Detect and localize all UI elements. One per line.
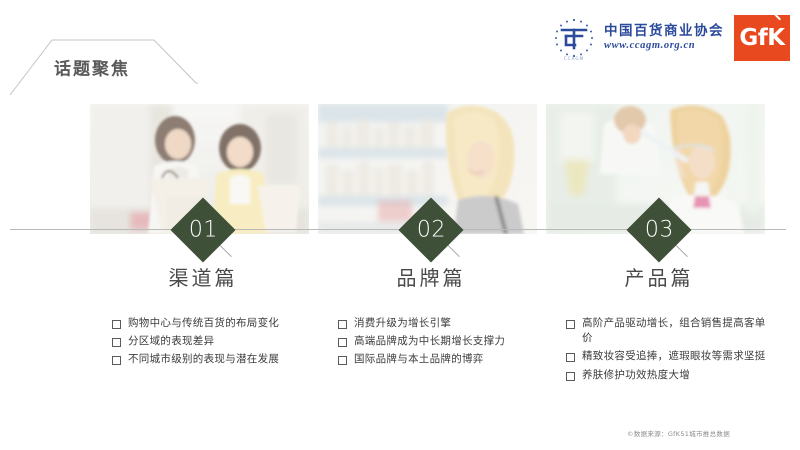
page-title-banner: 话题聚焦: [8, 38, 198, 96]
section-bullet-list: 消费升级为增长引擎 高端品牌成为中长期增长支撑力 国际品牌与本土品牌的博弈: [338, 316, 553, 371]
square-bullet-icon: [566, 372, 575, 381]
square-bullet-icon: [566, 353, 575, 362]
connector-line-right: [686, 229, 786, 230]
section-bullet-list: 购物中心与传统百货的布局变化 分区域的表现差异 不同城市级别的表现与潜在发展: [112, 316, 327, 371]
bullet-text: 购物中心与传统百货的布局变化: [128, 316, 279, 331]
bullet-item: 不同城市级别的表现与潜在发展: [112, 352, 327, 367]
section-bullet-list: 高阶产品驱动增长，组合销售提高客单价 精致妆容受追捧，遮瑕眼妆等需求坚挺 养肤修…: [566, 316, 766, 386]
section-title: 渠道篇: [90, 262, 316, 291]
bullet-item: 国际品牌与本土品牌的博弈: [338, 352, 553, 367]
square-bullet-icon: [338, 338, 347, 347]
bullet-item: 分区域的表现差异: [112, 334, 327, 349]
bullet-text: 分区域的表现差异: [128, 334, 214, 349]
bullet-item: 养肤修护功效热度大增: [566, 368, 766, 383]
bullet-text: 国际品牌与本土品牌的博弈: [354, 352, 484, 367]
square-bullet-icon: [338, 320, 347, 329]
svg-text:CCAGM: CCAGM: [564, 56, 585, 61]
section-title: 品牌篇: [318, 262, 544, 291]
section-brand[interactable]: 02 品牌篇 消费升级为增长引擎 高端品牌成为中长期增长支撑力 国际品牌与本土品…: [318, 104, 544, 234]
section-number: 03: [645, 219, 674, 241]
bullet-item: 高端品牌成为中长期增长支撑力: [338, 334, 553, 349]
connector-line-left: [238, 229, 418, 230]
page-title: 话题聚焦: [54, 55, 130, 80]
gfk-logo: GfK: [734, 15, 790, 61]
header-logos: CCAGM 中国百货商业协会 www.ccagm.org.cn GfK: [550, 12, 790, 64]
section-number: 01: [189, 219, 218, 241]
section-title: 产品篇: [546, 262, 772, 291]
section-number-badge: 02: [401, 200, 461, 260]
gfk-label: GfK: [739, 27, 784, 50]
bullet-item: 高阶产品驱动增长，组合销售提高客单价: [566, 316, 766, 346]
ccagm-logo: CCAGM 中国百货商业协会 www.ccagm.org.cn: [550, 14, 724, 62]
square-bullet-icon: [112, 320, 121, 329]
section-number-badge: 01: [173, 200, 233, 260]
bullet-item: 精致妆容受追捧，遮瑕眼妆等需求坚挺: [566, 349, 766, 364]
section-number-badge: 03: [629, 200, 689, 260]
connector-line-left: [466, 229, 646, 230]
source-note: ©数据来源：GfK51城市推总数据: [627, 428, 730, 438]
section-product[interactable]: 03 产品篇 高阶产品驱动增长，组合销售提高客单价 精致妆容受追捧，遮瑕眼妆等需…: [546, 104, 772, 234]
bullet-text: 养肤修护功效热度大增: [582, 368, 690, 383]
bullet-text: 高阶产品驱动增长，组合销售提高客单价: [582, 316, 766, 346]
square-bullet-icon: [112, 356, 121, 365]
bullet-text: 不同城市级别的表现与潜在发展: [128, 352, 279, 367]
square-bullet-icon: [338, 356, 347, 365]
connector-line-left: [10, 229, 190, 230]
square-bullet-icon: [566, 320, 575, 329]
ccagm-name: 中国百货商业协会: [604, 25, 724, 39]
ccagm-emblem-icon: CCAGM: [550, 14, 598, 62]
bullet-text: 精致妆容受追捧，遮瑕眼妆等需求坚挺: [582, 349, 766, 364]
bullet-item: 消费升级为增长引擎: [338, 316, 553, 331]
bullet-item: 购物中心与传统百货的布局变化: [112, 316, 327, 331]
section-number: 02: [417, 219, 446, 241]
bullet-text: 高端品牌成为中长期增长支撑力: [354, 334, 505, 349]
bullet-text: 消费升级为增长引擎: [354, 316, 451, 331]
ccagm-url: www.ccagm.org.cn: [604, 41, 724, 52]
square-bullet-icon: [112, 338, 121, 347]
section-channel[interactable]: 01 渠道篇 购物中心与传统百货的布局变化 分区域的表现差异 不同城市级别的表现…: [90, 104, 316, 234]
